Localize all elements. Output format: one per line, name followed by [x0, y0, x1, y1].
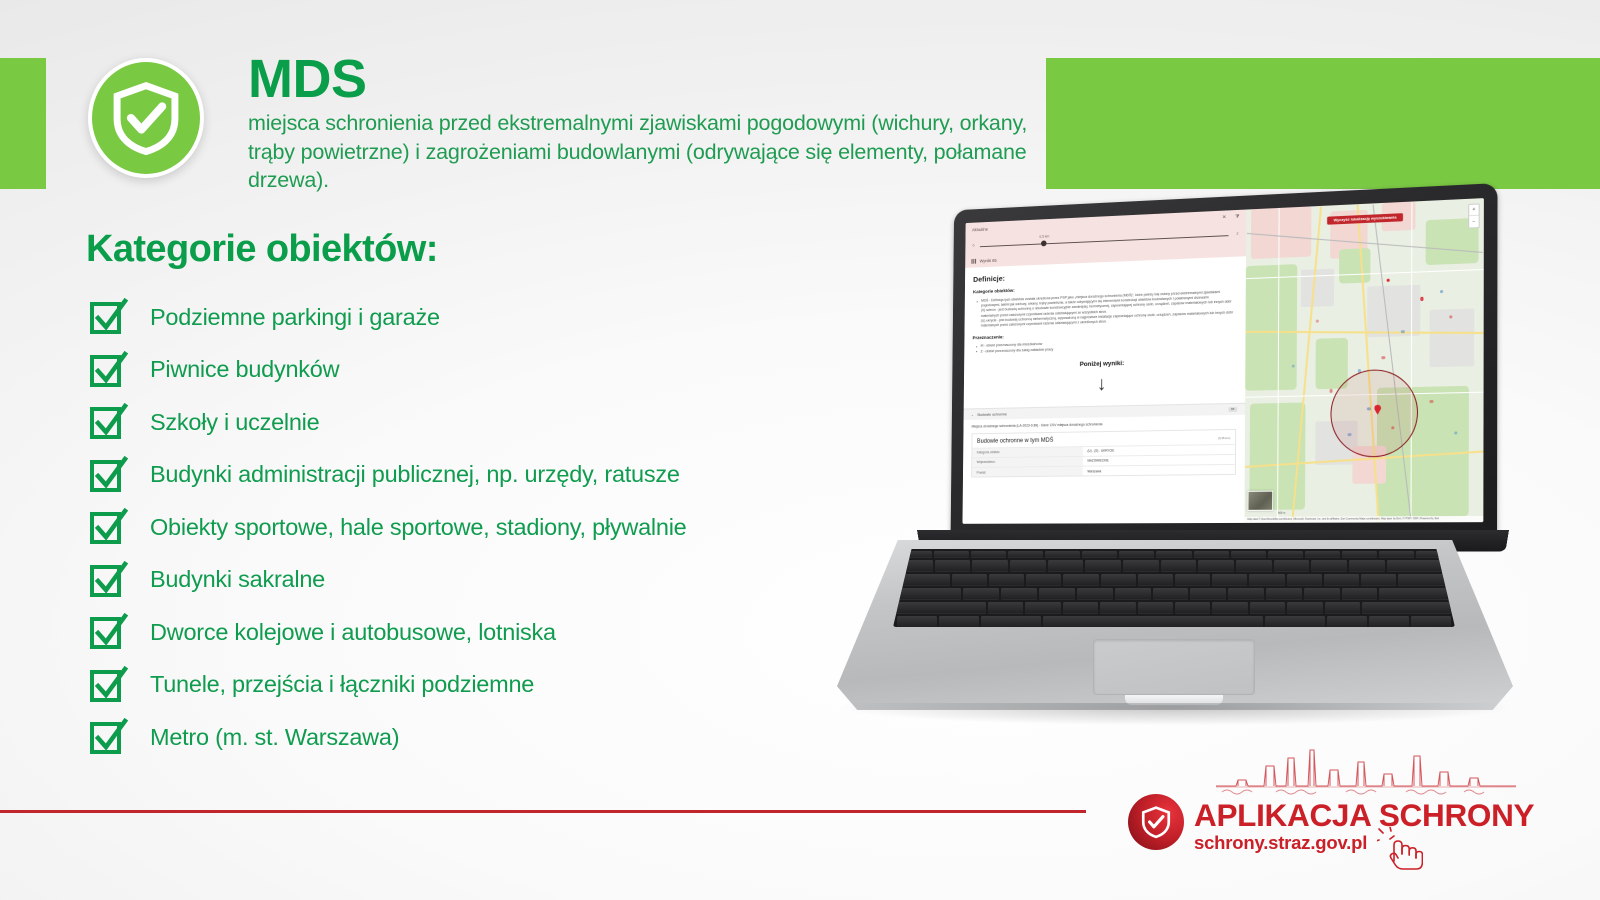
header: MDS miejsca schronienia przed ekstremaln…: [88, 52, 1028, 202]
key[interactable]: [1153, 588, 1189, 600]
key[interactable]: [1175, 602, 1210, 614]
list-item-label: Budynki administracji publicznej, np. ur…: [150, 461, 680, 488]
key[interactable]: [1138, 574, 1173, 586]
checkbox-checked-icon[interactable]: [88, 665, 128, 705]
key[interactable]: [1010, 560, 1046, 572]
map-canvas[interactable]: [1244, 198, 1483, 523]
warsaw-skyline-icon: [1216, 742, 1516, 800]
list-item-label: Szkoły i uczelnie: [150, 409, 319, 436]
trackpad[interactable]: [1093, 639, 1255, 695]
funnel-icon[interactable]: ⧩: [1235, 215, 1239, 220]
key[interactable]: [1311, 560, 1347, 572]
key[interactable]: [1342, 588, 1378, 600]
list-item[interactable]: Budynki administracji publicznej, np. ur…: [88, 449, 908, 502]
key[interactable]: [971, 551, 1006, 558]
key[interactable]: [935, 560, 971, 572]
table-distance: (0,35 km): [1218, 436, 1230, 440]
list-item-label: Metro (m. st. Warszawa): [150, 724, 399, 751]
panel-tab-name: Aktualne: [972, 227, 988, 233]
shift-key[interactable]: [897, 602, 986, 614]
table-cell-key: Kategoria obiektu:: [972, 447, 1083, 457]
option-key-right[interactable]: [1327, 616, 1367, 627]
laptop-lid: Aktualne ✕ ⧩ 0,5 km 0 2: [951, 183, 1498, 545]
checkbox-checked-icon[interactable]: [88, 560, 128, 600]
table-cell-key: Powiat:: [972, 467, 1083, 477]
plus-icon[interactable]: +: [1469, 204, 1478, 216]
below-results-label: Poniżej wyniki:: [972, 357, 1236, 371]
list-item[interactable]: Piwnice budynków: [88, 344, 908, 397]
list-item-label: Podziemne parkingi i garaże: [150, 304, 440, 331]
key[interactable]: [1156, 551, 1191, 558]
key[interactable]: [1198, 560, 1234, 572]
list-item[interactable]: Szkoły i uczelnie: [88, 396, 908, 449]
checkbox-checked-icon[interactable]: [88, 350, 128, 390]
key[interactable]: [1250, 602, 1285, 614]
key[interactable]: [1324, 574, 1359, 586]
slider-min-label: 0: [973, 244, 975, 248]
key[interactable]: [1379, 551, 1414, 558]
key[interactable]: [1274, 560, 1310, 572]
slider-track[interactable]: [980, 235, 1229, 247]
list-item[interactable]: Budynki sakralne: [88, 554, 908, 607]
list-item[interactable]: Obiekty sportowe, hale sportowe, stadion…: [88, 501, 908, 554]
categories-heading: Kategorie obiektów:: [86, 228, 438, 271]
key[interactable]: [1228, 588, 1264, 600]
checkbox-checked-icon[interactable]: [88, 297, 128, 337]
key[interactable]: [963, 588, 999, 600]
control-key[interactable]: [897, 616, 937, 627]
laptop-mockup: Aktualne ✕ ⧩ 0,5 km 0 2: [825, 195, 1525, 765]
key[interactable]: [972, 560, 1008, 572]
command-key[interactable]: [981, 616, 1041, 627]
map-pane[interactable]: Wyczyść lokalizację wyszukiwania + − 500…: [1244, 198, 1483, 523]
key[interactable]: [1190, 588, 1226, 600]
key[interactable]: [1048, 560, 1084, 572]
laptop-shadow: [843, 703, 1507, 725]
table-cell-value: Warszawa: [1083, 465, 1235, 476]
key[interactable]: [1063, 574, 1098, 586]
key[interactable]: [1175, 574, 1210, 586]
checkbox-checked-icon[interactable]: [88, 455, 128, 495]
key[interactable]: [1194, 551, 1229, 558]
page-title: MDS: [248, 52, 1028, 107]
key[interactable]: [1001, 588, 1037, 600]
key[interactable]: [1266, 588, 1302, 600]
footer: APLIKACJA SCHRONY schrony.straz.gov.pl: [1128, 742, 1548, 872]
click-hand-icon: [1377, 827, 1423, 871]
key[interactable]: [1236, 560, 1272, 572]
close-icon[interactable]: ✕: [1222, 215, 1226, 220]
map-zoom-controls[interactable]: + −: [1468, 203, 1480, 228]
shield-check-icon: [1139, 805, 1173, 839]
key[interactable]: [1063, 602, 1098, 614]
key[interactable]: [1101, 574, 1136, 586]
list-item-label: Budynki sakralne: [150, 566, 325, 593]
return-key[interactable]: [1379, 588, 1451, 600]
satellite-thumbnail-icon[interactable]: [1247, 491, 1273, 511]
checkbox-checked-icon[interactable]: [88, 717, 128, 757]
key[interactable]: [1138, 602, 1173, 614]
key[interactable]: [988, 602, 1023, 614]
decor-bar-left: [0, 58, 46, 189]
key[interactable]: [1026, 574, 1061, 586]
key[interactable]: [1008, 551, 1043, 558]
command-key-right[interactable]: [1265, 616, 1325, 627]
results-card: ⌄ Budowle ochronne 65 Miejsca doraźnego …: [963, 402, 1245, 477]
chevron-down-icon[interactable]: ⌄: [971, 412, 974, 417]
list-item[interactable]: Metro (m. st. Warszawa): [88, 711, 908, 764]
checkbox-checked-icon[interactable]: [88, 402, 128, 442]
key[interactable]: [1161, 560, 1197, 572]
key[interactable]: [1287, 574, 1322, 586]
app-logo-shield: [1128, 794, 1184, 850]
key[interactable]: [1212, 574, 1247, 586]
page-subtitle: miejsca schronienia przed ekstremalnymi …: [248, 109, 1028, 195]
key[interactable]: [1119, 551, 1154, 558]
key[interactable]: [1305, 551, 1340, 558]
key[interactable]: [1231, 551, 1266, 558]
key[interactable]: [1212, 602, 1247, 614]
key[interactable]: [952, 574, 987, 586]
app-document-pane: Aktualne ✕ ⧩ 0,5 km 0 2: [962, 210, 1246, 524]
key[interactable]: [1100, 602, 1135, 614]
attributes-table: Budowle ochronne w tym MDŚ (0,35 km) Kat…: [971, 428, 1236, 477]
key[interactable]: [934, 551, 969, 558]
key[interactable]: [1045, 551, 1080, 558]
list-item-label: Obiekty sportowe, hale sportowe, stadion…: [150, 514, 687, 541]
key[interactable]: [1268, 551, 1303, 558]
checkbox-checked-icon[interactable]: [88, 507, 128, 547]
table-title: Budowle ochronne w tym MDŚ: [977, 436, 1054, 444]
definitions-heading: Definicje:: [973, 265, 1237, 284]
key[interactable]: [1325, 602, 1360, 614]
key[interactable]: [1115, 588, 1151, 600]
key[interactable]: [1249, 574, 1284, 586]
key[interactable]: [1085, 560, 1121, 572]
key[interactable]: [1039, 588, 1075, 600]
list-item-label: Tunele, przejścia i łączniki podziemne: [150, 671, 534, 698]
key[interactable]: [1287, 602, 1322, 614]
list-item[interactable]: Tunele, przejścia i łączniki podziemne: [88, 659, 908, 712]
results-count-label: Wyniki 65: [980, 258, 997, 264]
key[interactable]: [1304, 588, 1340, 600]
space-key[interactable]: [1043, 616, 1263, 627]
slider-handle[interactable]: [1041, 241, 1047, 247]
shield-check-icon: [109, 81, 183, 155]
mds-badge: [88, 58, 204, 178]
results-count-badge: 65: [1228, 406, 1237, 411]
laptop-screen: Aktualne ✕ ⧩ 0,5 km 0 2: [962, 198, 1483, 524]
map-scale-label: 500 m: [1278, 512, 1285, 515]
laptop-keyboard[interactable]: [893, 549, 1455, 627]
key[interactable]: [1025, 602, 1060, 614]
list-item[interactable]: Podziemne parkingi i garaże: [88, 291, 908, 344]
key[interactable]: [1123, 560, 1159, 572]
arrow-keys[interactable]: [1411, 616, 1451, 627]
key[interactable]: [1077, 588, 1113, 600]
document-body: Definicje: Kategorie obiektów: MDŚ - Def…: [964, 256, 1246, 394]
option-key[interactable]: [939, 616, 979, 627]
checkbox-checked-icon[interactable]: [88, 612, 128, 652]
footer-divider: [0, 810, 1086, 813]
arrow-keys[interactable]: [1369, 616, 1409, 627]
app-url-link[interactable]: schrony.straz.gov.pl: [1194, 832, 1367, 854]
list-item-label: Piwnice budynków: [150, 356, 339, 383]
minus-icon[interactable]: −: [1469, 216, 1478, 228]
down-arrow-icon: ↓: [972, 373, 1237, 395]
shift-key-right[interactable]: [1362, 602, 1451, 614]
key[interactable]: [1349, 560, 1385, 572]
results-card-title: Budowle ochronne: [978, 411, 1007, 416]
key[interactable]: [1082, 551, 1117, 558]
categories-list: Podziemne parkingi i garaże Piwnice budy…: [88, 291, 908, 764]
grid-icon: [972, 259, 977, 264]
map-attribution: Map data © OpenStreetMap contributors, M…: [1244, 516, 1483, 523]
list-item-label: Dworce kolejowe i autobusowe, lotniska: [150, 619, 556, 646]
list-item[interactable]: Dworce kolejowe i autobusowe, lotniska: [88, 606, 908, 659]
decor-bar-right: [1046, 58, 1600, 189]
key[interactable]: [989, 574, 1024, 586]
capslock-key[interactable]: [897, 588, 961, 600]
table-cell-key: Województwo:: [972, 457, 1083, 467]
app-name: APLIKACJA SCHRONY: [1194, 797, 1534, 834]
slider-max-label: 2: [1236, 232, 1238, 236]
table-cell-value: MAZOWIECKIE: [1083, 455, 1235, 466]
slider-value-label: 0,5 km: [1039, 234, 1049, 238]
key[interactable]: [1361, 574, 1396, 586]
key[interactable]: [1342, 551, 1377, 558]
